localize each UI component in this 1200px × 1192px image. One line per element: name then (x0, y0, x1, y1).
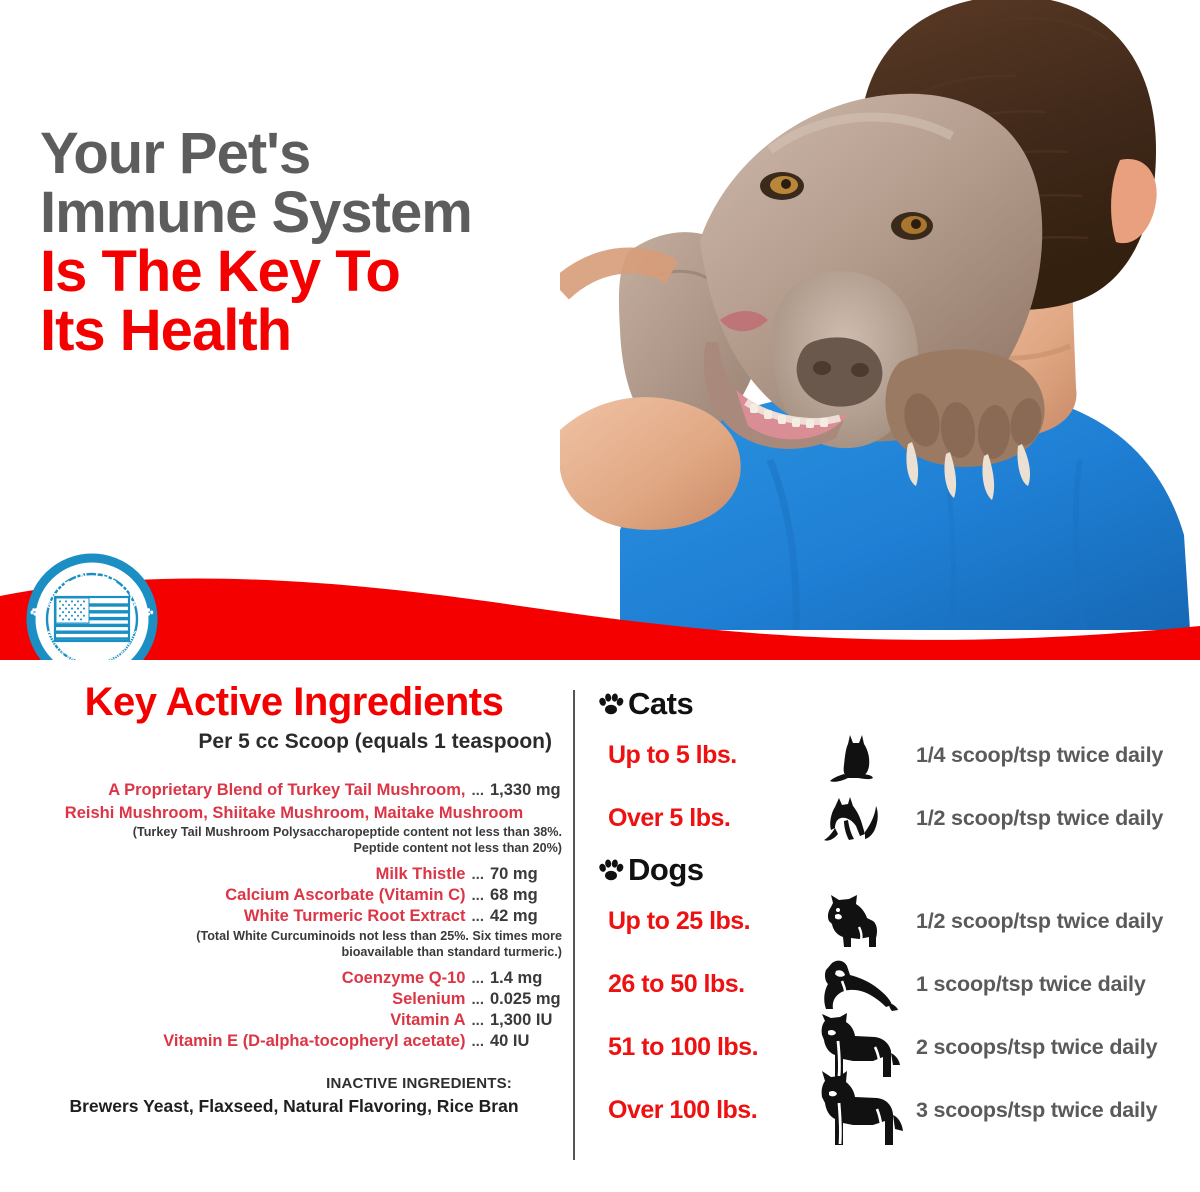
dosage-weight: 51 to 100 lbs. (598, 1033, 794, 1062)
dosage-panel: Cats Up to 5 lbs. 1/4 scoop/tsp twice da… (598, 686, 1188, 1142)
dosage-amount: 2 scoops/tsp twice daily (916, 1035, 1188, 1060)
hero-photo (560, 0, 1200, 630)
ingredient-name: Selenium (392, 990, 465, 1009)
ingredient-name: Milk Thistle (376, 865, 466, 884)
headline-line-1: Your Pet's (40, 124, 472, 183)
dog-small-icon (794, 893, 916, 951)
dosage-group-cats-heading: Cats (598, 686, 1188, 722)
made-in-usa-badge: MADE IN THE USA With Us and Global Ingre… (26, 553, 158, 660)
ingredient-row: Coenzyme Q-10 ... 1.4 mg (24, 969, 564, 988)
spacer (24, 960, 564, 969)
ingredient-amount: 1.4 mg (490, 969, 564, 988)
cat-walking-icon (794, 792, 916, 846)
ingredient-amount: 40 IU (490, 1032, 564, 1051)
ingredient-name-blend: A Proprietary Blend of Turkey Tail Mushr… (108, 780, 465, 801)
ingredients-list: A Proprietary Blend of Turkey Tail Mushr… (24, 780, 564, 1051)
ingredient-amount: 70 mg (490, 865, 564, 884)
ingredient-name: White Turmeric Root Extract (244, 907, 466, 926)
ingredient-row: Vitamin A ... 1,300 IU (24, 1011, 564, 1030)
page-headline: Your Pet's Immune System Is The Key To I… (40, 124, 472, 360)
ingredient-dots: ... (471, 908, 484, 925)
paw-print-icon (598, 858, 624, 882)
dosage-row: Over 5 lbs. 1/2 scoop/tsp twice daily (598, 787, 1188, 850)
lower-section: Key Active Ingredients Per 5 cc Scoop (e… (0, 678, 1200, 1192)
dosage-weight: Up to 25 lbs. (598, 907, 794, 936)
ingredient-dots: ... (471, 1033, 484, 1050)
dosage-weight: 26 to 50 lbs. (598, 970, 794, 999)
dosage-row: Up to 5 lbs. 1/4 scoop/tsp twice daily (598, 724, 1188, 787)
blend-note-line1: (Turkey Tail Mushroom Polysaccharopeptid… (24, 824, 564, 840)
ingredient-dots: ... (471, 887, 484, 904)
ingredient-amount: 1,300 IU (490, 1011, 564, 1030)
ingredient-row: Vitamin E (D-alpha-tocopheryl acetate) .… (24, 1032, 564, 1051)
ingredient-row-blend: A Proprietary Blend of Turkey Tail Mushr… (24, 780, 564, 801)
dosage-weight: Up to 5 lbs. (598, 741, 794, 770)
dosage-row: Over 100 lbs. 3 scoops/tsp twice daily (598, 1079, 1188, 1142)
panel-divider (573, 690, 575, 1160)
ingredient-dots: ... (471, 782, 484, 799)
ingredient-dots: ... (471, 991, 484, 1008)
red-wave-divider (0, 560, 1200, 660)
dog-xlarge-icon (794, 1071, 916, 1151)
spacer (24, 856, 564, 865)
ingredient-amount: 42 mg (490, 907, 564, 926)
headline-line-3: Is The Key To (40, 242, 472, 301)
key-active-ingredients-panel: Key Active Ingredients Per 5 cc Scoop (e… (24, 678, 564, 1117)
dosage-weight: Over 100 lbs. (598, 1096, 794, 1125)
dog-medium-icon (794, 957, 916, 1013)
headline-line-2: Immune System (40, 183, 472, 242)
cat-sitting-icon (794, 728, 916, 784)
dosage-amount: 1/2 scoop/tsp twice daily (916, 806, 1188, 831)
hero-section: Your Pet's Immune System Is The Key To I… (0, 0, 1200, 660)
ingredients-title: Key Active Ingredients (24, 678, 564, 726)
headline-line-4: Its Health (40, 301, 472, 360)
dosage-weight: Over 5 lbs. (598, 804, 794, 833)
ingredient-name: Calcium Ascorbate (Vitamin C) (225, 886, 465, 905)
ingredient-row: Selenium ... 0.025 mg (24, 990, 564, 1009)
dosage-group-label-cats: Cats (628, 686, 693, 722)
dosage-amount: 1/2 scoop/tsp twice daily (916, 909, 1188, 934)
turmeric-note-line2: bioavailable than standard turmeric.) (24, 944, 564, 960)
ingredients-subtitle: Per 5 cc Scoop (equals 1 teaspoon) (24, 730, 564, 754)
turmeric-note-line1: (Total White Curcuminoids not less than … (24, 928, 564, 944)
ingredient-name: Vitamin E (D-alpha-tocopheryl acetate) (163, 1032, 465, 1051)
ingredient-amount: 68 mg (490, 886, 564, 905)
ingredient-name-blend-line2: Reishi Mushroom, Shiitake Mushroom, Mait… (24, 803, 564, 824)
dosage-amount: 1 scoop/tsp twice daily (916, 972, 1188, 997)
dosage-group-dogs-heading: Dogs (598, 852, 1188, 888)
ingredient-row: Milk Thistle ... 70 mg (24, 865, 564, 884)
paw-print-icon (598, 692, 624, 716)
inactive-ingredients-heading: INACTIVE INGREDIENTS: (24, 1075, 564, 1092)
dosage-group-label-dogs: Dogs (628, 852, 704, 888)
ingredient-row: White Turmeric Root Extract ... 42 mg (24, 907, 564, 926)
ingredient-dots: ... (471, 1012, 484, 1029)
ingredient-amount: 0.025 mg (490, 990, 564, 1009)
inactive-ingredients-list: Brewers Yeast, Flaxseed, Natural Flavori… (24, 1096, 564, 1117)
dosage-row: Up to 25 lbs. 1/2 scoop/tsp twice daily (598, 890, 1188, 953)
ingredient-amount-blend: 1,330 mg (490, 781, 564, 800)
dosage-amount: 3 scoops/tsp twice daily (916, 1098, 1188, 1123)
dosage-amount: 1/4 scoop/tsp twice daily (916, 743, 1188, 768)
ingredient-name: Coenzyme Q-10 (342, 969, 466, 988)
ingredient-dots: ... (471, 866, 484, 883)
ingredient-row: Calcium Ascorbate (Vitamin C) ... 68 mg (24, 886, 564, 905)
dosage-row: 26 to 50 lbs. 1 scoop/tsp twice daily (598, 953, 1188, 1016)
ingredient-name: Vitamin A (390, 1011, 465, 1030)
ingredient-dots: ... (471, 970, 484, 987)
blend-note-line2: Peptide content not less than 20%) (24, 840, 564, 856)
